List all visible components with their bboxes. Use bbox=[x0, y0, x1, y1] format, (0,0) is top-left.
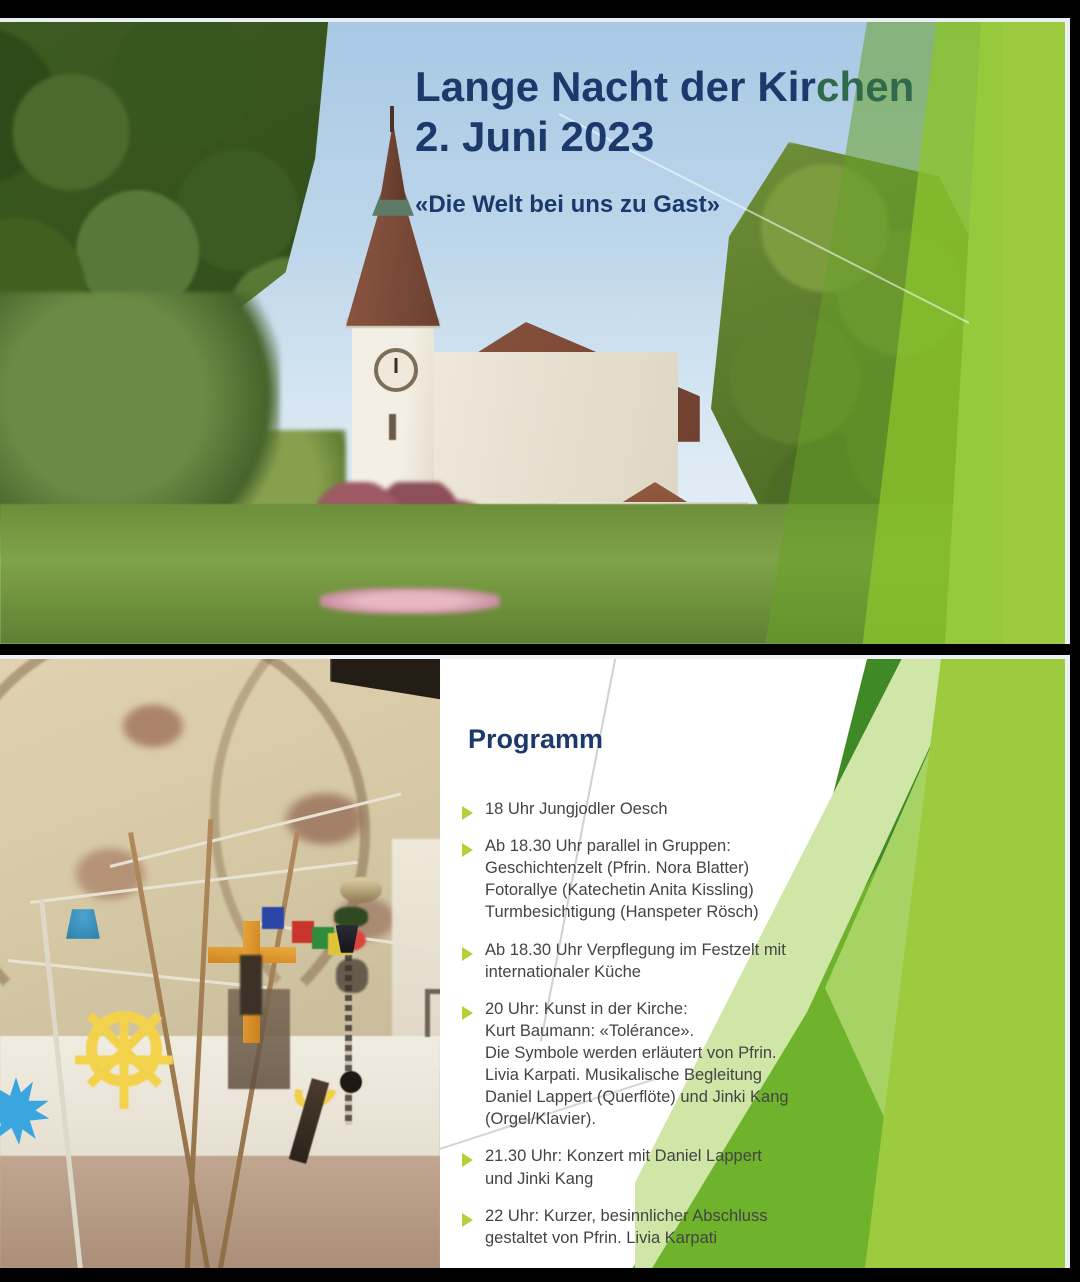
star-of-david-icon bbox=[0, 1077, 50, 1145]
poster-subtitle: «Die Welt bei uns zu Gast» bbox=[415, 191, 1015, 219]
headline-line-2: 2. Juni 2023 bbox=[415, 112, 1015, 162]
interior-photo bbox=[0, 659, 440, 1268]
headline-block: Lange Nacht der Kirchen 2. Juni 2023 «Di… bbox=[415, 62, 1015, 219]
program-item-text: Ab 18.30 Uhr Verpflegung im Festzelt mit… bbox=[485, 939, 786, 983]
program-content-area: Programm 18 Uhr Jungjodler OeschAb 18.30… bbox=[440, 659, 1065, 1268]
hanging-disc-dark bbox=[340, 1071, 362, 1093]
bullet-arrow-icon bbox=[462, 1006, 473, 1020]
prayer-flag-red bbox=[292, 921, 314, 943]
poster-root: Lange Nacht der Kirchen 2. Juni 2023 «Di… bbox=[0, 0, 1080, 1282]
program-item: 22 Uhr: Kurzer, besinnlicher Abschlussge… bbox=[462, 1205, 854, 1249]
crucifix-corpus bbox=[240, 955, 262, 1015]
prayer-flag-blue bbox=[262, 907, 284, 929]
program-item: Ab 18.30 Uhr Verpflegung im Festzelt mit… bbox=[462, 939, 854, 983]
bullet-arrow-icon bbox=[462, 806, 473, 820]
green-edge-band-bottom bbox=[1005, 659, 1065, 1268]
khanda-symbol-icon bbox=[336, 959, 368, 993]
fresco-mark-1 bbox=[118, 701, 188, 751]
headline-line-1: Lange Nacht der Kirchen bbox=[415, 62, 1015, 112]
program-item: 18 Uhr Jungjodler Oesch bbox=[462, 798, 854, 820]
headline-line-1-suffix: chen bbox=[816, 63, 914, 110]
program-item-text: 18 Uhr Jungjodler Oesch bbox=[485, 798, 668, 820]
spire-finial bbox=[390, 106, 394, 132]
letterbox-top bbox=[0, 0, 1080, 18]
program-item-text: Ab 18.30 Uhr parallel in Gruppen:Geschic… bbox=[485, 835, 759, 923]
letterbox-right bbox=[1071, 0, 1080, 1282]
menorah-icon bbox=[425, 989, 440, 1037]
tower-clock-icon bbox=[374, 348, 418, 392]
bullet-arrow-icon bbox=[462, 843, 473, 857]
bullet-arrow-icon bbox=[462, 1153, 473, 1167]
prayer-flags bbox=[262, 907, 342, 953]
bottom-panel: Programm 18 Uhr Jungjodler OeschAb 18.30… bbox=[0, 655, 1070, 1268]
flower-bed bbox=[320, 588, 500, 614]
program-item: 21.30 Uhr: Konzert mit Daniel Lappertund… bbox=[462, 1145, 854, 1189]
program-list: 18 Uhr Jungjodler OeschAb 18.30 Uhr para… bbox=[462, 798, 854, 1264]
bullet-arrow-icon bbox=[462, 947, 473, 961]
headline-line-1-prefix: Lange Nacht der Kir bbox=[415, 63, 816, 110]
program-item: Ab 18.30 Uhr parallel in Gruppen:Geschic… bbox=[462, 835, 854, 923]
program-item-text: 21.30 Uhr: Konzert mit Daniel Lappertund… bbox=[485, 1145, 762, 1189]
tower-window-upper bbox=[389, 414, 396, 440]
program-heading: Programm bbox=[468, 724, 603, 755]
program-item-text: 20 Uhr: Kunst in der Kirche:Kurt Baumann… bbox=[485, 998, 789, 1131]
program-item-text: 22 Uhr: Kurzer, besinnlicher Abschlussge… bbox=[485, 1205, 767, 1249]
hanging-dish-right bbox=[340, 877, 382, 903]
bullet-arrow-icon bbox=[462, 1213, 473, 1227]
program-item: 20 Uhr: Kunst in der Kirche:Kurt Baumann… bbox=[462, 998, 854, 1131]
top-panel: Lange Nacht der Kirchen 2. Juni 2023 «Di… bbox=[0, 18, 1070, 644]
letterbox-bottom bbox=[0, 1268, 1080, 1282]
